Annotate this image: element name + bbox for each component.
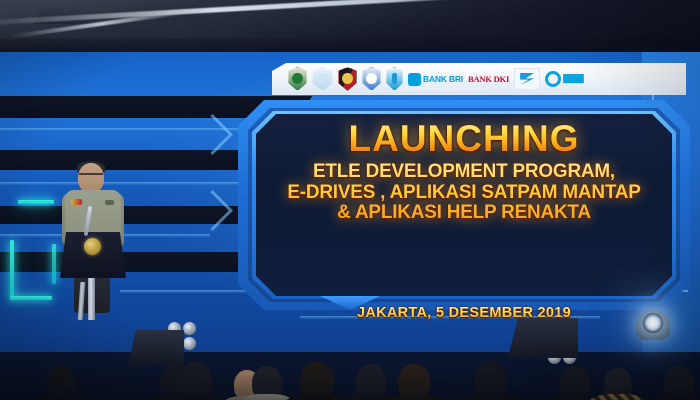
logo-sponsor-circle: ████ <box>545 71 583 87</box>
audience-member-patterned <box>604 368 632 400</box>
subtitle-line-1: ETLE DEVELOPMENT PROGRAM, <box>268 161 660 182</box>
logo-korlantas-partner <box>514 68 540 90</box>
logo-dki-jakarta-crest <box>386 67 403 91</box>
spotlight-right <box>636 310 670 340</box>
audience-member <box>178 362 212 400</box>
logo-bank-bri: BANK BRI <box>408 73 463 86</box>
audience-member <box>356 364 386 400</box>
speaker-name-tag <box>105 200 114 205</box>
bank-dki-wordmark: BANK DKI <box>468 75 509 84</box>
ceiling <box>0 0 700 56</box>
cyan-led-accent <box>52 244 56 284</box>
audience-member <box>46 366 76 400</box>
announcement-text-block: LAUNCHING ETLE DEVELOPMENT PROGRAM, E-DR… <box>256 114 672 296</box>
logo-police-crest-red-black <box>338 67 357 91</box>
audience-member <box>560 366 590 400</box>
headline-launching: LAUNCHING <box>349 120 580 157</box>
subtitle-line-3: & APLIKASI HELP RENAKTA <box>268 202 660 223</box>
event-stage-screenshot: BANK BRI BANK DKI ████ LAUNCHING ETLE DE… <box>0 0 700 400</box>
cyan-led-accent <box>10 240 14 298</box>
audience-member-uniformed <box>252 366 282 400</box>
date-row: JAKARTA, 5 DESEMBER 2019 <box>238 300 690 326</box>
speaker-glasses <box>79 173 103 180</box>
bank-bri-wordmark: BANK BRI <box>423 75 463 84</box>
spotlight-beam <box>643 313 663 333</box>
logo-jasa-raharja-crest <box>362 67 381 91</box>
stage-monitor-speaker-left <box>128 330 184 366</box>
audience-member <box>474 362 508 400</box>
cyan-led-accent <box>18 200 54 204</box>
podium-gold-emblem <box>84 238 101 255</box>
audience-member <box>664 366 694 400</box>
audience-member <box>300 362 334 400</box>
subtitle-block: ETLE DEVELOPMENT PROGRAM, E-DRIVES , APL… <box>268 161 660 223</box>
logo-polda-metro-jaya-crest <box>288 67 307 91</box>
speaker-rank-insignia <box>71 199 82 205</box>
wall-accent-stripe <box>0 182 270 185</box>
audience-member <box>398 364 430 400</box>
subtitle-line-2: E-DRIVES , APLIKASI SATPAM MANTAP <box>268 182 660 203</box>
logo-bank-dki: BANK DKI <box>468 75 509 84</box>
stage-monitor-speaker-right <box>508 318 578 358</box>
foreground-shadow <box>0 354 700 400</box>
cyan-led-accent <box>10 296 52 300</box>
wall-dark-band <box>0 96 260 118</box>
logo-institution-crest-light-blue <box>312 67 333 91</box>
podium-stand <box>88 278 95 320</box>
sponsor-logo-bar: BANK BRI BANK DKI ████ <box>272 63 686 95</box>
